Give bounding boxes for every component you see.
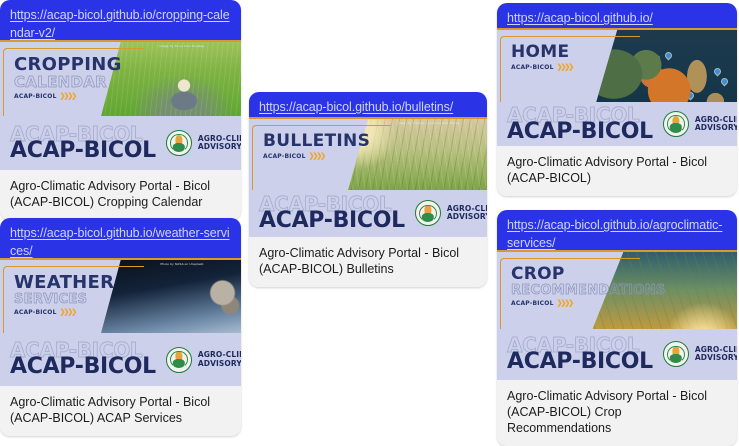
agro-climatic-seal-icon — [166, 130, 192, 156]
brand-strip: ACAP-BICOL ACAP-BICOL AGRO-CLIMATIC ADVI… — [0, 333, 241, 386]
site-banner: Image by Pixabay / photo by Rice Paddy B… — [249, 117, 487, 237]
banner-subtitle-row: ACAP-BICOL ❯❯❯❯ — [14, 308, 114, 316]
agro-climatic-seal-icon — [663, 341, 689, 367]
brand-lockup: ACAP-BICOL ACAP-BICOL — [10, 125, 156, 162]
brand-strip: ACAP-BICOL ACAP-BICOL AGRO-CLIMATIC ADVI… — [249, 190, 487, 237]
site-banner: HOME ACAP-BICOL ❯❯❯❯ ACAP-BICOL ACAP-BIC… — [497, 28, 737, 146]
portal-tagline: AGRO-CLIMATIC ADVISORY PORTAL - BICOL — [198, 135, 241, 152]
banner-section-title: CROP RECOMMENDATIONS ACAP-BICOL ❯❯❯❯ — [511, 266, 665, 307]
brand-name: ACAP-BICOL — [507, 352, 653, 373]
portal-tagline-line2: ADVISORY PORTAL - BICOL — [198, 143, 241, 151]
banner-subtitle: ACAP-BICOL — [511, 64, 554, 71]
map-pin-icon — [653, 54, 660, 61]
banner-title-line1: HOME — [511, 44, 572, 61]
seal-arc — [667, 115, 684, 132]
url-bar[interactable]: https://acap-bicol.github.io/bulletins/ — [249, 92, 487, 117]
link-preview-card-cropping-calendar[interactable]: https://acap-bicol.github.io/cropping-ca… — [0, 0, 241, 220]
brand-strip: ACAP-BICOL ACAP-BICOL AGRO-CLIMATIC ADVI… — [497, 329, 737, 380]
banner-section-title: WEATHER SERVICES ACAP-BICOL ❯❯❯❯ — [14, 274, 114, 316]
banner-subtitle: ACAP-BICOL — [14, 93, 57, 100]
brand-lockup: ACAP-BICOL ACAP-BICOL — [259, 195, 405, 232]
banner-subtitle: ACAP-BICOL — [511, 300, 554, 307]
link-preview-card-bulletins[interactable]: https://acap-bicol.github.io/bulletins/ … — [249, 92, 487, 287]
brand-lockup: ACAP-BICOL ACAP-BICOL — [507, 336, 653, 373]
card-caption: Agro-Climatic Advisory Portal - Bicol (A… — [0, 170, 241, 220]
portal-tagline: AGRO-CLIMATIC ADVISORY PORTAL - BICOL — [198, 351, 241, 368]
site-banner: Photo by aldrin3 on Unsplash CROP RECOMM… — [497, 250, 737, 380]
banner-subtitle-row: ACAP-BICOL ❯❯❯❯ — [14, 92, 122, 100]
portal-tagline-line2: ADVISORY PORTAL - BICOL — [695, 124, 737, 132]
site-banner: Image by Tri-Le from Pixabay CROPPING CA… — [0, 40, 241, 170]
agro-climatic-seal-icon — [415, 200, 441, 226]
banner-section-title: HOME ACAP-BICOL ❯❯❯❯ — [511, 44, 572, 71]
brand-name: ACAP-BICOL — [10, 141, 156, 162]
banner-title-line1: WEATHER — [14, 274, 114, 292]
site-banner: Photo by NASA on Unsplash WEATHER SERVIC… — [0, 258, 241, 386]
link-preview-card-crop-recommendations[interactable]: https://acap-bicol.github.io/agroclimati… — [497, 210, 737, 446]
brand-strip: ACAP-BICOL ACAP-BICOL AGRO-CLIMATIC ADVI… — [497, 102, 737, 146]
banner-subtitle-row: ACAP-BICOL ❯❯❯❯ — [511, 299, 665, 307]
agro-climatic-seal-icon — [166, 347, 192, 373]
link-preview-card-acap-services[interactable]: https://acap-bicol.github.io/weather-ser… — [0, 218, 241, 436]
card-caption: Agro-Climatic Advisory Portal - Bicol (A… — [0, 386, 241, 436]
brand-name: ACAP-BICOL — [259, 211, 405, 232]
banner-title-line1: BULLETINS — [263, 133, 370, 150]
banner-title-line2: SERVICES — [14, 293, 114, 306]
brand-lockup: ACAP-BICOL ACAP-BICOL — [10, 341, 156, 378]
banner-title-line2: RECOMMENDATIONS — [511, 284, 665, 297]
portal-tagline-line2: ADVISORY PORTAL - BICOL — [198, 360, 241, 368]
card-caption: Agro-Climatic Advisory Portal - Bicol (A… — [497, 146, 737, 196]
url-link[interactable]: https://acap-bicol.github.io/cropping-ca… — [10, 8, 230, 40]
url-bar[interactable]: https://acap-bicol.github.io/cropping-ca… — [0, 0, 241, 40]
seal-arc — [170, 351, 187, 368]
brand-name: ACAP-BICOL — [10, 357, 156, 378]
card-caption: Agro-Climatic Advisory Portal - Bicol (A… — [497, 380, 737, 446]
chevrons-icon: ❯❯❯❯ — [60, 308, 75, 316]
banner-title-line2: CALENDAR — [14, 75, 122, 90]
portal-tagline-line2: ADVISORY PORTAL - BICOL — [695, 354, 737, 362]
chevrons-icon: ❯❯❯❯ — [60, 92, 75, 100]
banner-title-line1: CROPPING — [14, 56, 122, 74]
banner-section-title: BULLETINS ACAP-BICOL ❯❯❯❯ — [263, 133, 370, 160]
seal-arc — [419, 205, 436, 222]
url-bar[interactable]: https://acap-bicol.github.io/ — [497, 3, 737, 28]
map-pin-icon — [714, 68, 721, 75]
banner-subtitle: ACAP-BICOL — [263, 153, 306, 160]
map-pin-icon — [665, 52, 672, 59]
chevrons-icon: ❯❯❯❯ — [557, 63, 572, 71]
url-link[interactable]: https://acap-bicol.github.io/bulletins/ — [259, 100, 453, 114]
link-preview-card-home[interactable]: https://acap-bicol.github.io/ HOME ACAP-… — [497, 3, 737, 196]
brand-lockup: ACAP-BICOL ACAP-BICOL — [507, 106, 653, 143]
brand-name: ACAP-BICOL — [507, 122, 653, 143]
banner-title-line1: CROP — [511, 266, 665, 283]
banner-subtitle-row: ACAP-BICOL ❯❯❯❯ — [511, 63, 572, 71]
card-caption: Agro-Climatic Advisory Portal - Bicol (A… — [249, 237, 487, 287]
portal-tagline: AGRO-CLIMATIC ADVISORY PORTAL - BICOL — [695, 116, 737, 133]
portal-tagline: AGRO-CLIMATIC ADVISORY PORTAL - BICOL — [447, 205, 487, 222]
agro-climatic-seal-icon — [663, 111, 689, 137]
seal-arc — [667, 346, 684, 363]
url-link[interactable]: https://acap-bicol.github.io/weather-ser… — [10, 226, 230, 258]
map-pin-icon — [675, 80, 682, 87]
banner-subtitle-row: ACAP-BICOL ❯❯❯❯ — [263, 152, 370, 160]
map-pin-icon — [687, 92, 694, 99]
url-link[interactable]: https://acap-bicol.github.io/ — [507, 11, 653, 25]
brand-strip: ACAP-BICOL ACAP-BICOL AGRO-CLIMATIC ADVI… — [0, 116, 241, 170]
map-pin-icon — [721, 78, 728, 85]
banner-section-title: CROPPING CALENDAR ACAP-BICOL ❯❯❯❯ — [14, 56, 122, 100]
url-bar[interactable]: https://acap-bicol.github.io/weather-ser… — [0, 218, 241, 258]
portal-tagline-line2: ADVISORY PORTAL - BICOL — [447, 213, 487, 221]
portal-tagline: AGRO-CLIMATIC ADVISORY PORTAL - BICOL — [695, 346, 737, 363]
url-bar[interactable]: https://acap-bicol.github.io/agroclimati… — [497, 210, 737, 250]
url-link[interactable]: https://acap-bicol.github.io/agroclimati… — [507, 218, 722, 250]
chevrons-icon: ❯❯❯❯ — [557, 299, 572, 307]
seal-arc — [170, 134, 187, 151]
chevrons-icon: ❯❯❯❯ — [309, 152, 324, 160]
banner-subtitle: ACAP-BICOL — [14, 309, 57, 316]
